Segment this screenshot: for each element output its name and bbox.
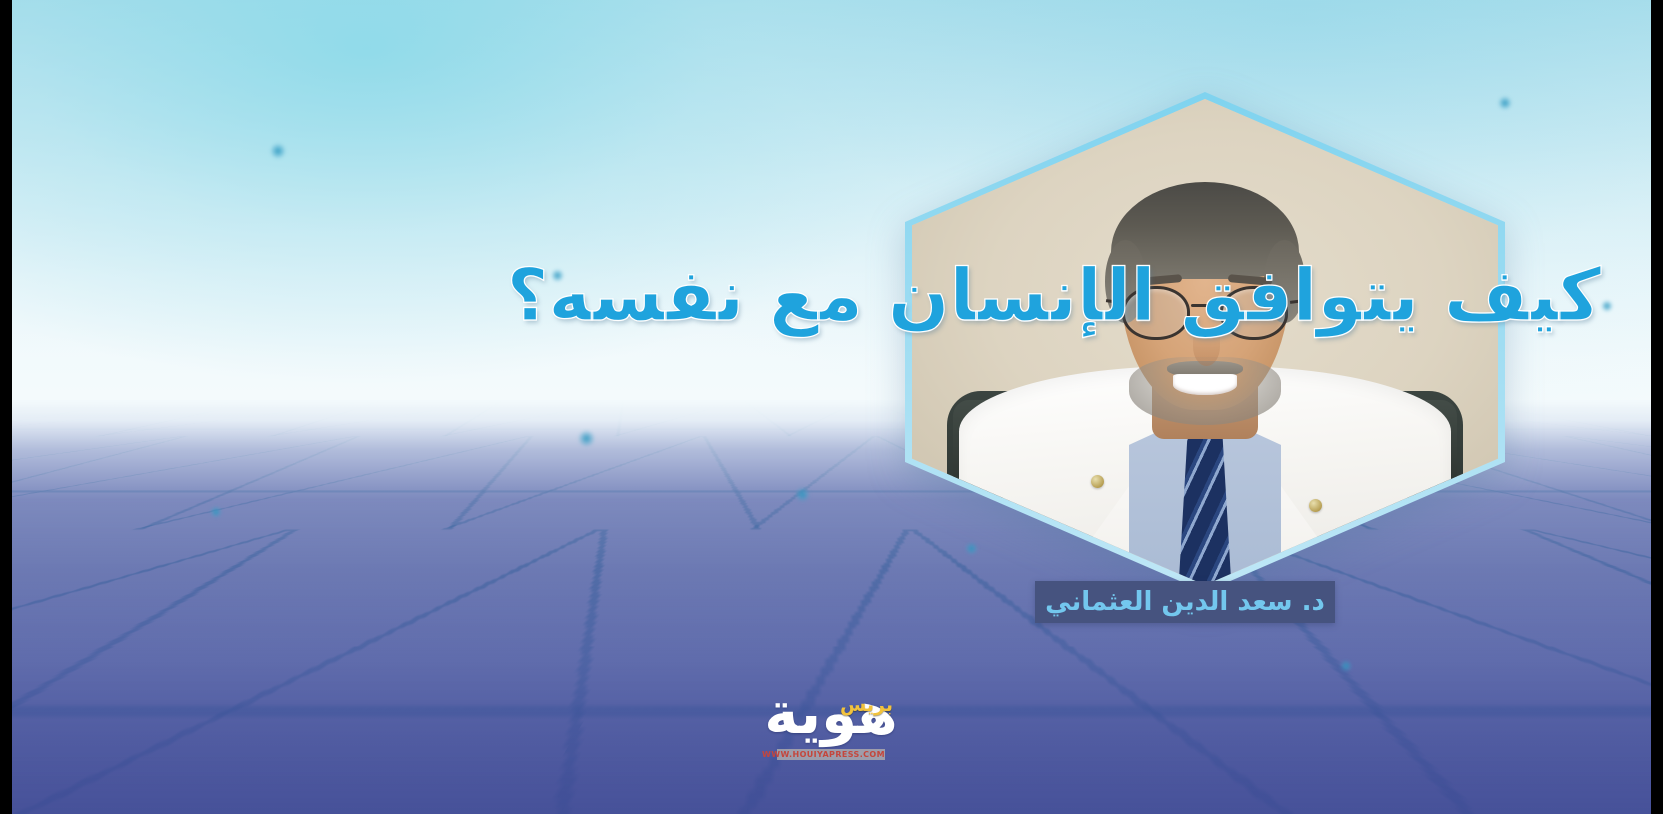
hexagon-photo-clip — [912, 99, 1498, 585]
brand-logo-sub-text: بريس — [840, 694, 893, 716]
guest-photo — [912, 99, 1498, 585]
brand-logo-main-text: هوية — [741, 684, 921, 742]
guest-portrait-hexagon — [905, 92, 1505, 592]
brand-logo[interactable]: هوية بريس WWW.HOUIYAPRESS.COM — [741, 676, 921, 768]
particle-dot — [1340, 660, 1352, 672]
headline: كيف يتوافق الإنسان مع نفسه؟ — [0, 258, 1663, 334]
particle-dot — [578, 430, 595, 447]
letterbox-bar-right — [1651, 0, 1663, 814]
particle-dot — [795, 487, 810, 502]
guest-name-text: د. سعد الدين العثماني — [1045, 587, 1325, 617]
headline-text: كيف يتوافق الإنسان مع نفسه؟ — [507, 258, 1601, 334]
guest-name-bar: د. سعد الدين العثماني — [1035, 581, 1335, 623]
brand-logo-url: WWW.HOUIYAPRESS.COM — [777, 749, 885, 760]
banner-stage: كيف يتوافق الإنسان مع نفسه؟ د. سعد الدين… — [0, 0, 1663, 814]
letterbox-bar-left — [0, 0, 12, 814]
particle-dot — [210, 506, 222, 518]
particle-dot — [270, 143, 286, 159]
